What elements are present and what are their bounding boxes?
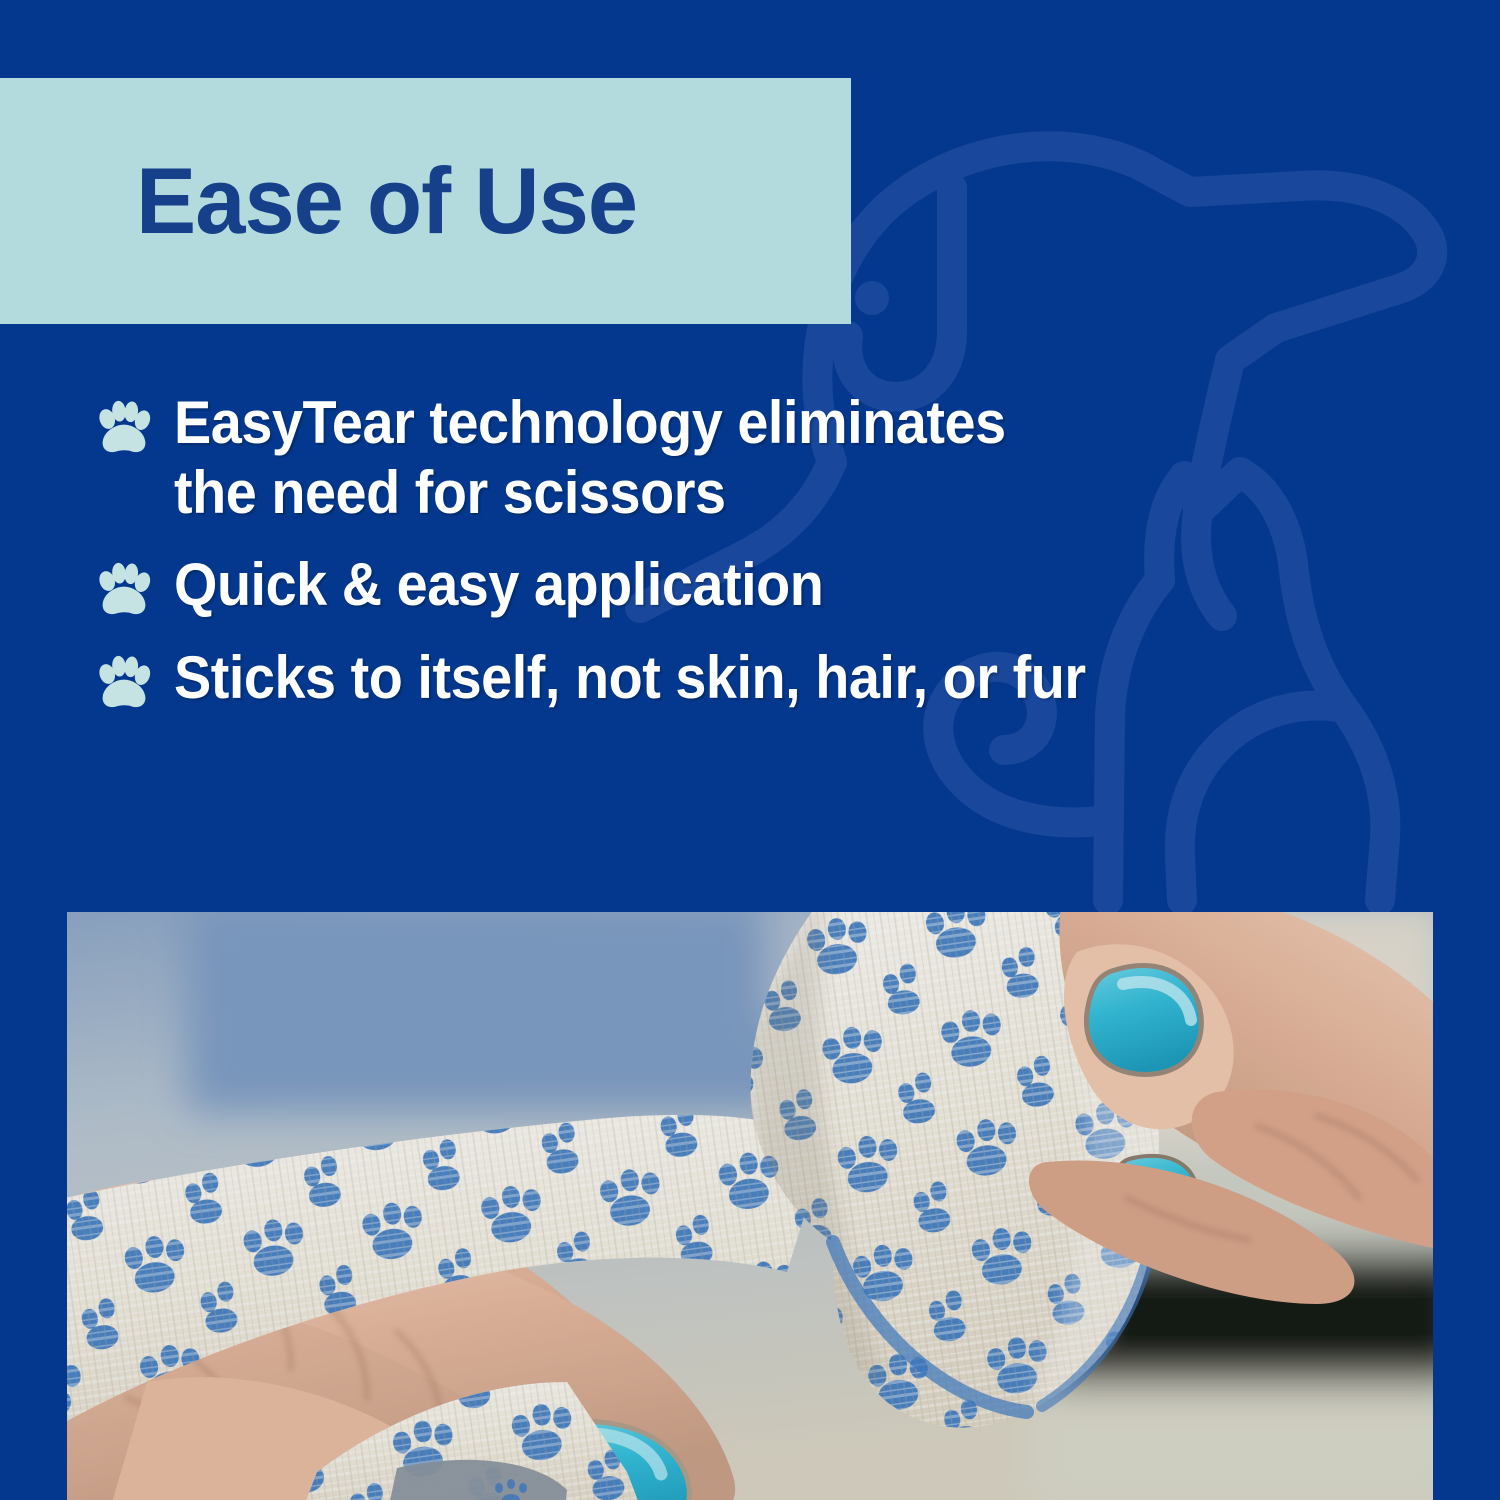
hands-tearing-paw-print-bandage-photo (67, 912, 1433, 1500)
list-item-label: EasyTear technology eliminates the need … (174, 388, 1006, 528)
list-item: Sticks to itself, not skin, hair, or fur (96, 643, 1436, 713)
paw-print-icon (96, 400, 152, 456)
list-item: EasyTear technology eliminates the need … (96, 388, 1436, 528)
benefits-list: EasyTear technology eliminates the need … (96, 388, 1436, 713)
list-item: Quick & easy application (96, 550, 1436, 620)
title-banner: Ease of Use (0, 78, 851, 324)
list-item-label: Quick & easy application (174, 550, 823, 620)
paw-print-icon (96, 655, 152, 711)
page-title: Ease of Use (136, 154, 637, 248)
infographic-card: Ease of Use EasyTear technology eliminat… (0, 0, 1500, 1500)
list-item-label: Sticks to itself, not skin, hair, or fur (174, 643, 1086, 713)
paw-print-icon (96, 562, 152, 618)
